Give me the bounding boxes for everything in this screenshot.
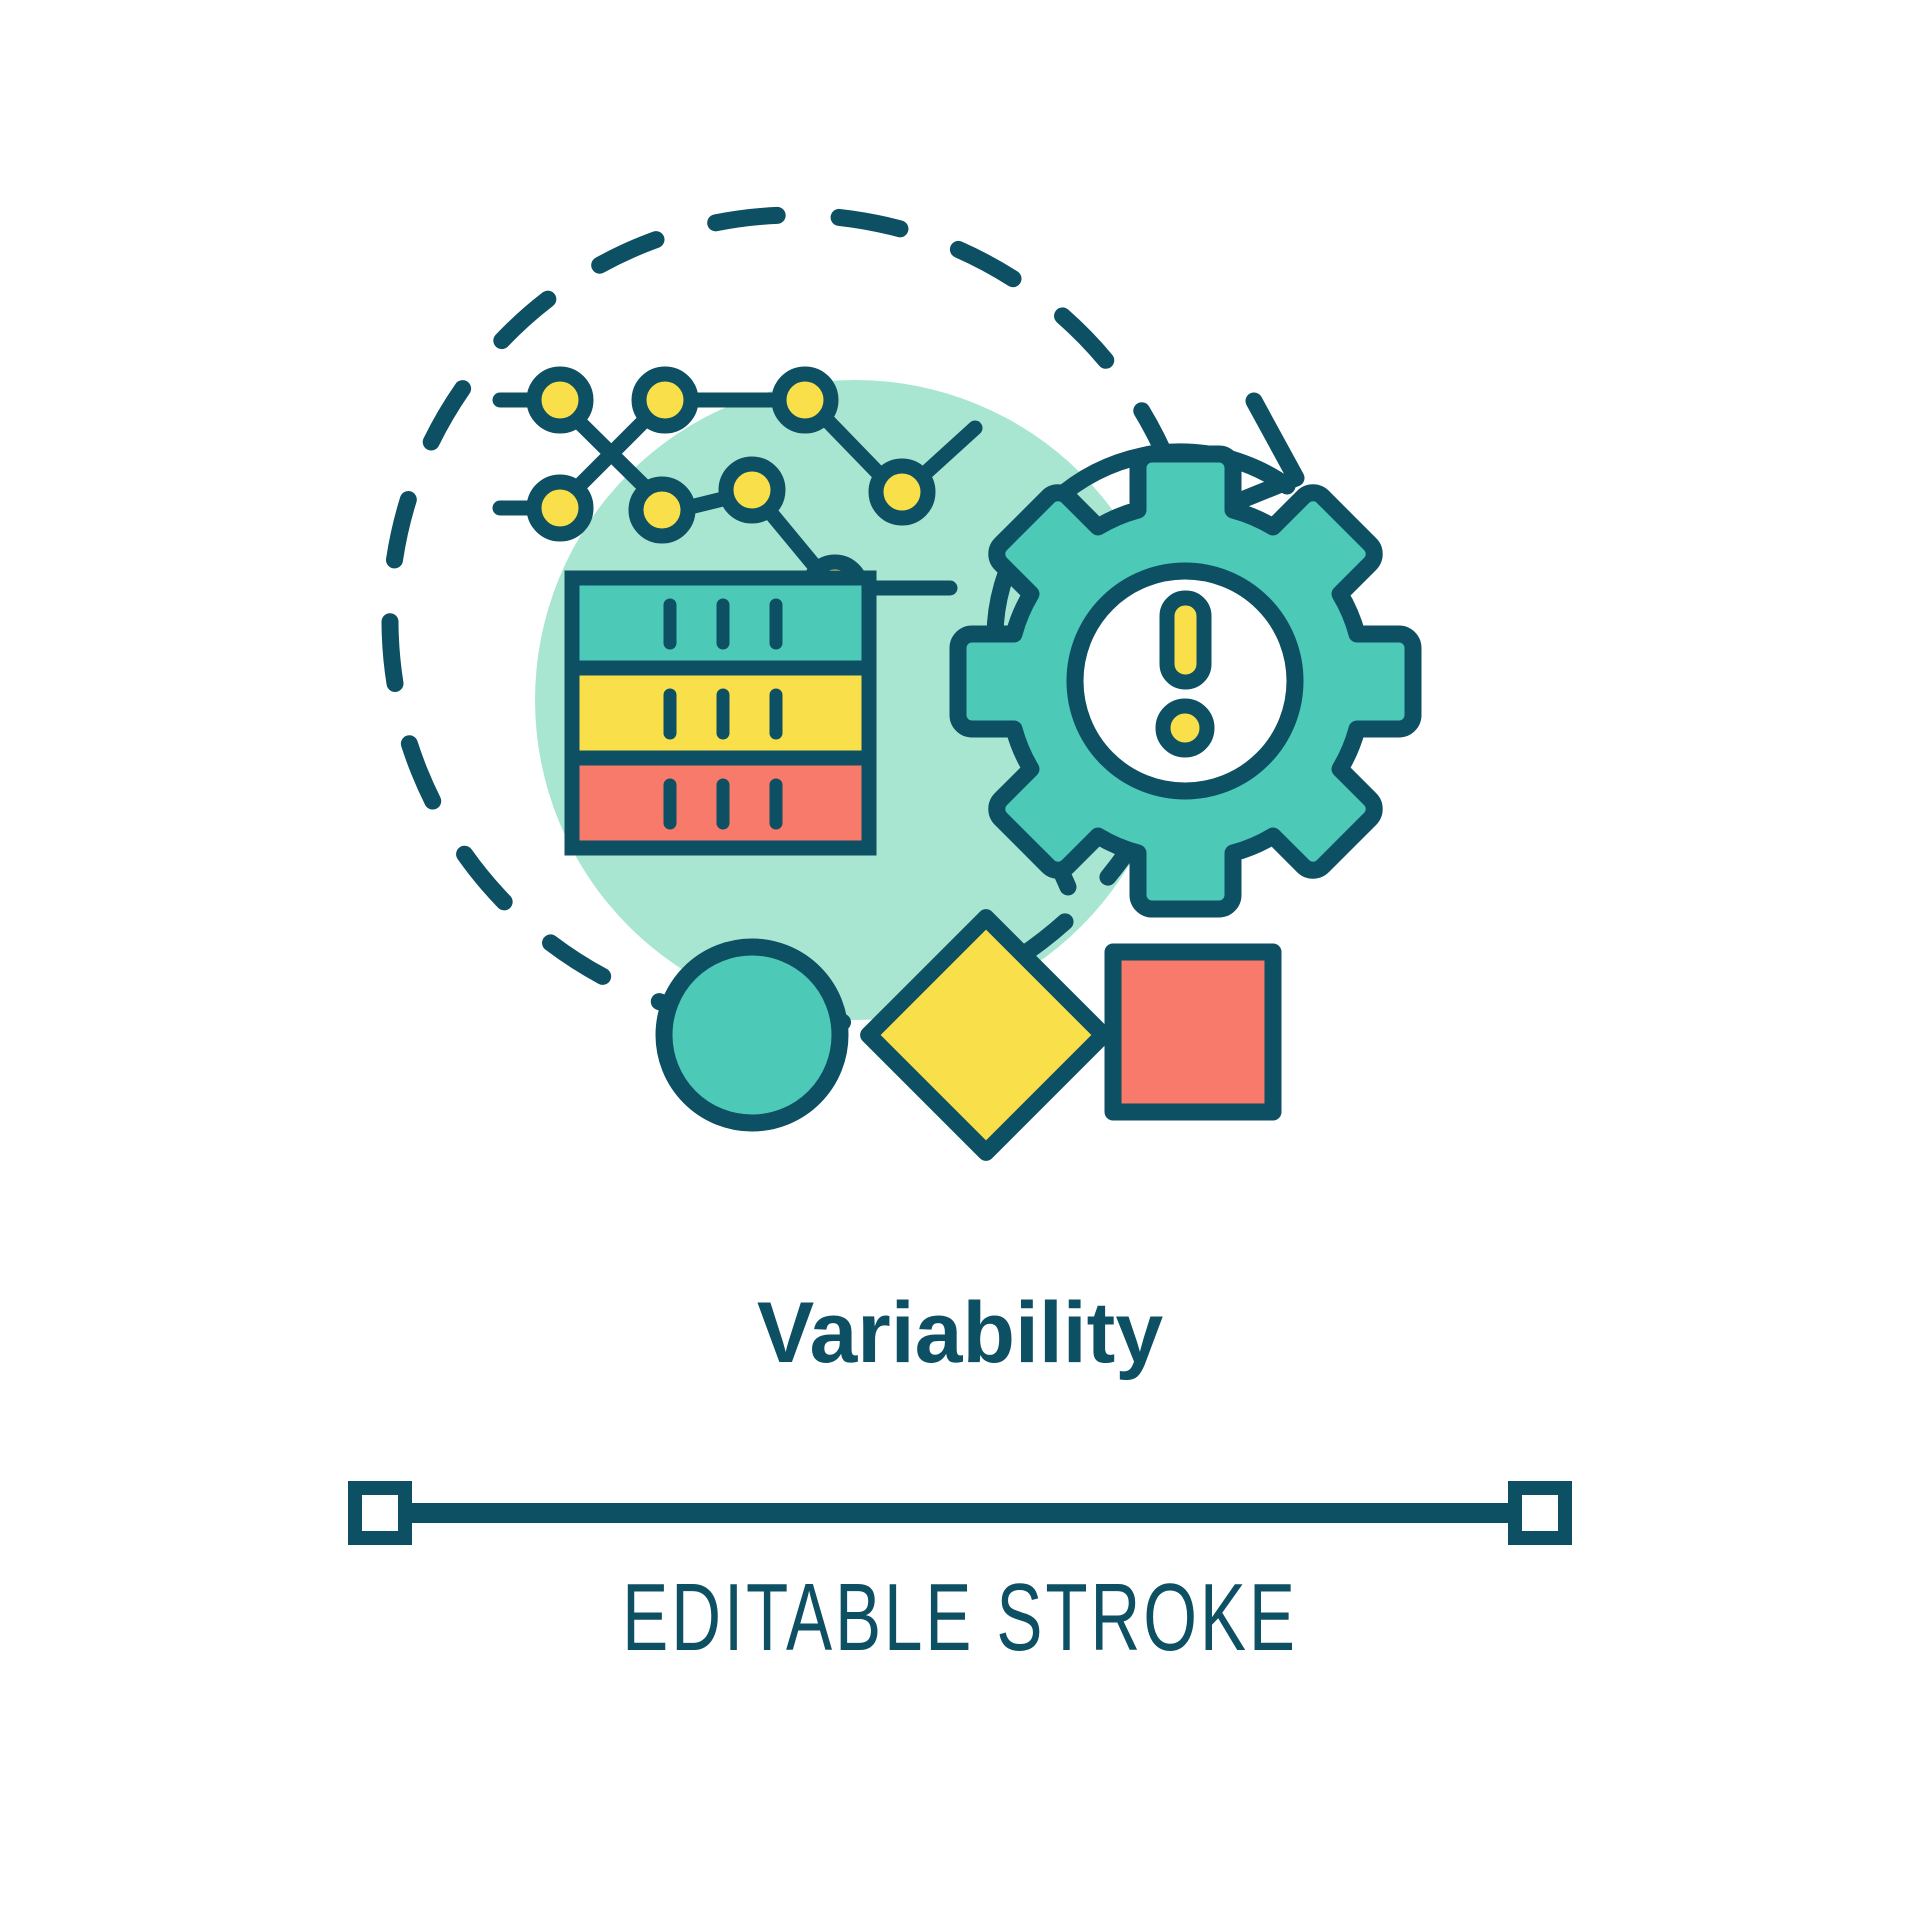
square-shape <box>1113 952 1273 1112</box>
ruler-handle-right <box>1515 1488 1565 1538</box>
graph-node <box>779 374 831 426</box>
graph-node <box>726 464 778 516</box>
gear-with-alert <box>958 454 1413 909</box>
graph-node <box>636 484 688 536</box>
page-title: Variability <box>0 1290 1920 1376</box>
illustration-canvas: Variability EDITABLE STROKE <box>0 0 1920 1920</box>
alert-exclamation-dot <box>1163 706 1207 750</box>
stacked-bars <box>572 578 869 848</box>
graph-node <box>534 482 586 534</box>
ruler-handle-left <box>355 1488 405 1538</box>
editable-stroke-caption: EDITABLE STROKE <box>269 1570 1651 1666</box>
graph-node <box>534 374 586 426</box>
graph-node <box>639 374 691 426</box>
alert-exclamation-bar <box>1167 598 1204 682</box>
stroke-width-ruler <box>355 1488 1565 1538</box>
graph-node <box>876 466 928 518</box>
circle-shape <box>664 947 840 1123</box>
